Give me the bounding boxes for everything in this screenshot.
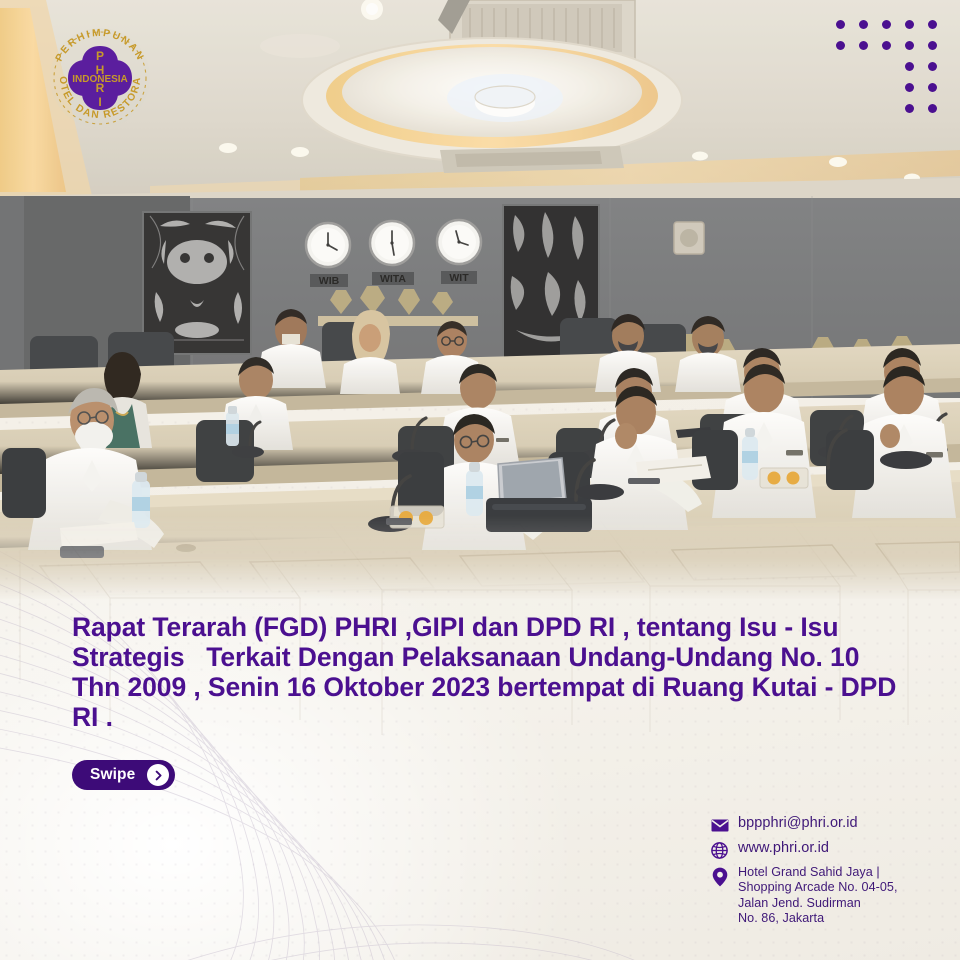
dot-grid-dot	[905, 20, 914, 29]
svg-text:INDONESIA: INDONESIA	[72, 74, 128, 85]
dot-grid-dot	[905, 83, 914, 92]
dot-grid-dot	[928, 41, 937, 50]
page-title: Rapat Terarah (FGD) PHRI ,GIPI dan DPD R…	[72, 612, 902, 732]
dot-grid-dot	[882, 20, 891, 29]
decorative-dot-grid	[836, 20, 940, 120]
dot-grid-dot	[882, 41, 891, 50]
swipe-button-label: Swipe	[90, 766, 135, 784]
chevron-right-icon	[147, 764, 169, 786]
contact-address-text: Hotel Grand Sahid Jaya | Shopping Arcade…	[738, 865, 898, 927]
dot-grid-dot	[859, 20, 868, 29]
svg-text:I: I	[98, 95, 101, 109]
contact-address-row: Hotel Grand Sahid Jaya | Shopping Arcade…	[710, 865, 940, 927]
dot-grid-dot	[859, 41, 868, 50]
envelope-icon	[710, 816, 729, 835]
poster-canvas: WIB WITA	[0, 0, 960, 960]
dot-grid-dot	[928, 83, 937, 92]
map-pin-icon	[710, 867, 729, 886]
phri-logo: PERHIMPUNAN HOTEL DAN RESTORAN P H R I I…	[44, 22, 156, 134]
dot-grid-dot	[905, 104, 914, 113]
dot-grid-dot	[905, 62, 914, 71]
dot-grid-dot	[928, 20, 937, 29]
dot-grid-dot	[905, 41, 914, 50]
dot-grid-dot	[928, 104, 937, 113]
dot-grid-dot	[836, 41, 845, 50]
contact-website-row[interactable]: www.phri.or.id	[710, 840, 940, 860]
dot-grid-dot	[928, 62, 937, 71]
svg-text:P: P	[96, 49, 104, 63]
contact-block: bppphri@phri.or.id www.phri.or.id	[710, 815, 940, 932]
contact-website-text: www.phri.or.id	[738, 840, 829, 857]
contact-email-row[interactable]: bppphri@phri.or.id	[710, 815, 940, 835]
swipe-button[interactable]: Swipe	[72, 760, 175, 790]
globe-icon	[710, 841, 729, 860]
dot-grid-dot	[836, 20, 845, 29]
contact-email-text: bppphri@phri.or.id	[738, 815, 858, 832]
